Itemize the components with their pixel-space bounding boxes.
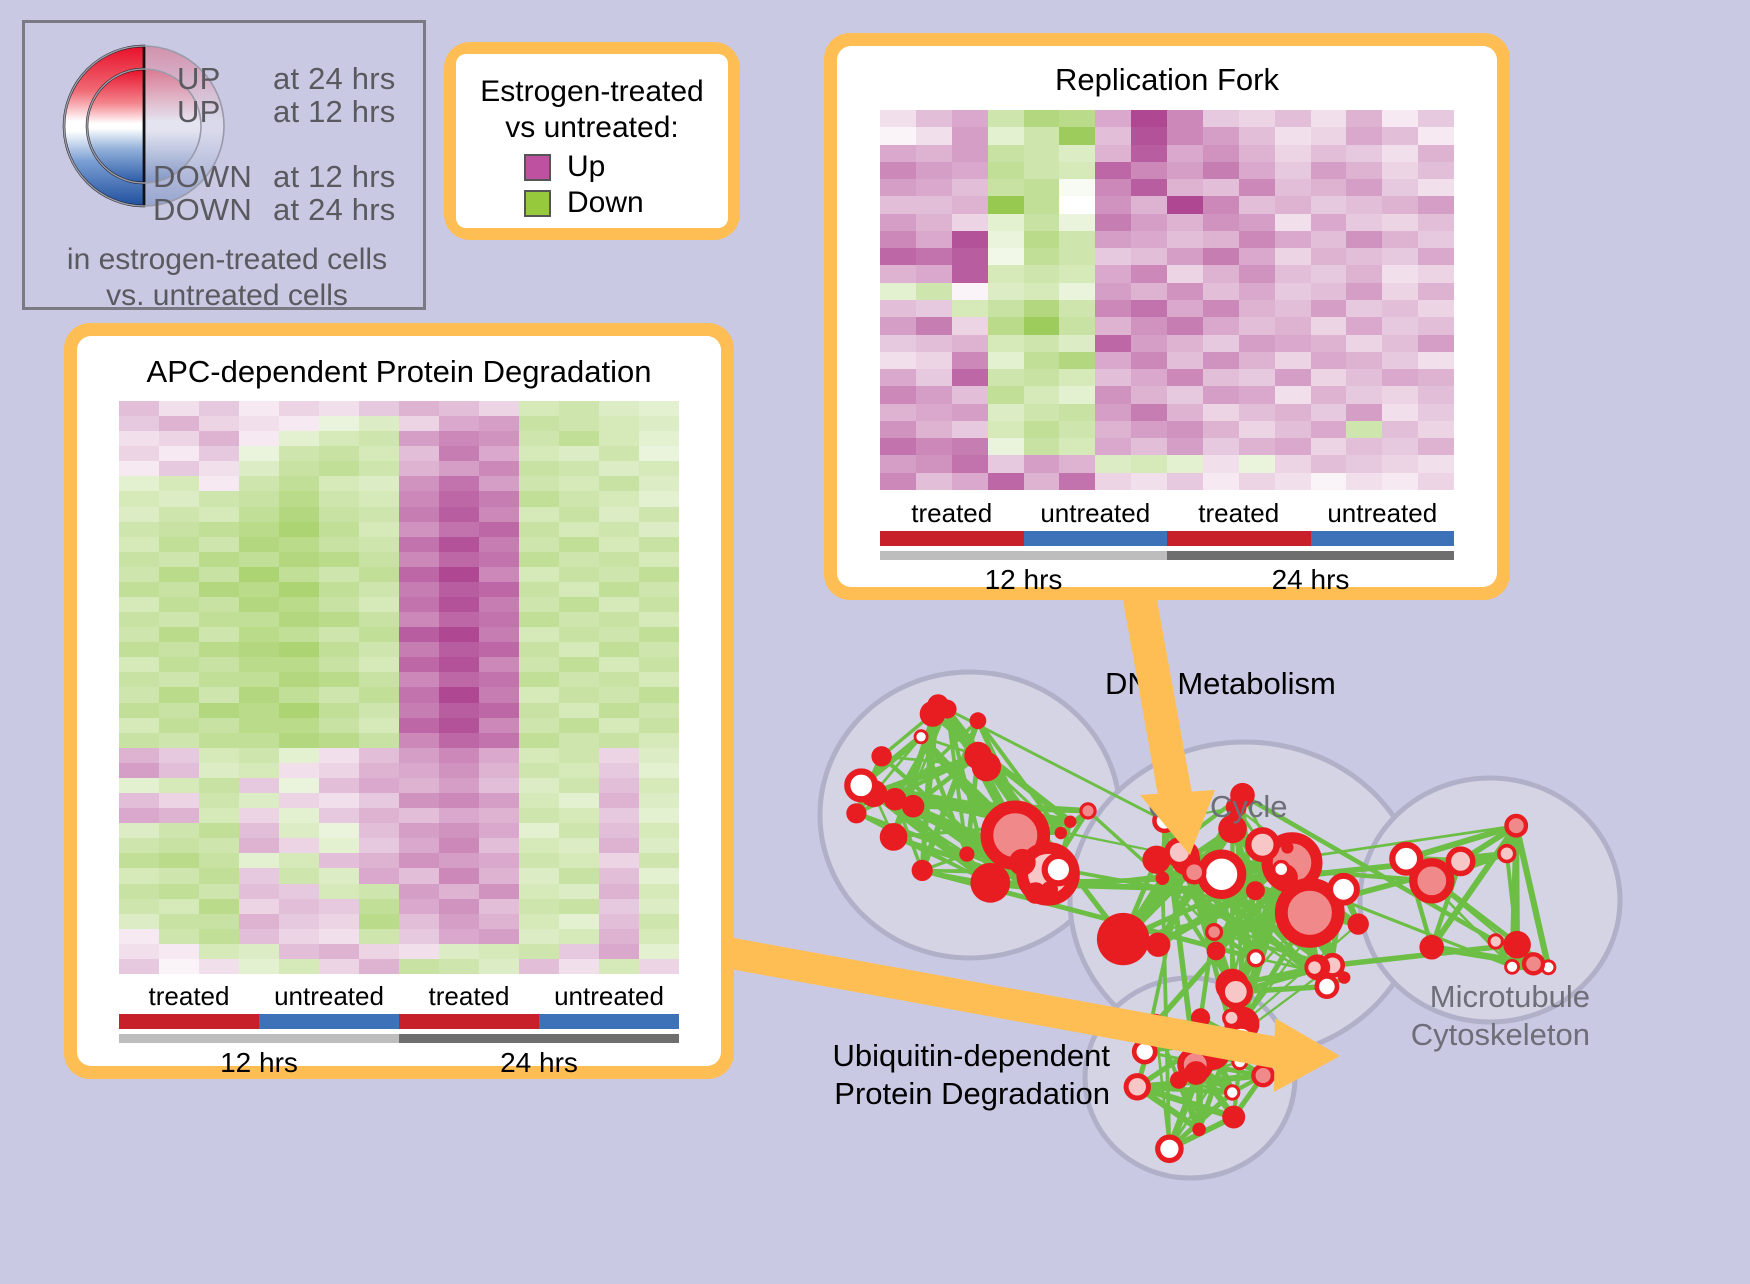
network-node[interactable] xyxy=(959,847,974,862)
network-node[interactable] xyxy=(938,700,957,719)
heatmap-cell xyxy=(952,214,988,231)
heatmap-cell xyxy=(159,763,199,778)
heatmap-cell xyxy=(479,748,519,763)
heatmap-cell xyxy=(439,672,479,687)
heatmap-cell xyxy=(1311,179,1347,196)
heatmap-cell xyxy=(988,231,1024,248)
network-node[interactable] xyxy=(1134,1041,1155,1062)
heatmap-cell xyxy=(952,162,988,179)
heatmap-cell xyxy=(1239,386,1275,403)
heatmap-cell xyxy=(1382,317,1418,334)
heatmap-cell xyxy=(1275,283,1311,300)
heatmap-cell xyxy=(119,733,159,748)
heatmap-cell xyxy=(519,476,559,491)
network-node[interactable] xyxy=(1064,816,1076,828)
heatmap-cell xyxy=(1418,145,1454,162)
heatmap-cell xyxy=(319,703,359,718)
heatmap-cell xyxy=(439,778,479,793)
heatmap-cell xyxy=(479,838,519,853)
heatmap-cell xyxy=(439,507,479,522)
heatmap-cell xyxy=(439,476,479,491)
heatmap-cell xyxy=(159,868,199,883)
heatmap-cell xyxy=(559,793,599,808)
network-node[interactable] xyxy=(880,823,908,851)
heatmap-cell xyxy=(880,473,916,490)
heatmap-cell xyxy=(1059,404,1095,421)
heatmap-cell xyxy=(239,507,279,522)
heatmap-cell xyxy=(1275,455,1311,472)
heatmap-cell xyxy=(1095,265,1131,282)
heatmap-cell xyxy=(279,567,319,582)
heatmap-cell xyxy=(319,853,359,868)
heatmap-cell xyxy=(519,416,559,431)
heatmap-cell xyxy=(559,507,599,522)
heatmap-cell xyxy=(159,748,199,763)
heatmap-cell xyxy=(880,196,916,213)
network-node[interactable] xyxy=(1207,942,1226,961)
heatmap-cell xyxy=(639,853,679,868)
heatmap-cell xyxy=(1167,179,1203,196)
heatmap-cell xyxy=(239,491,279,506)
network-node[interactable] xyxy=(972,752,1001,781)
heatmap-cell xyxy=(1311,438,1347,455)
heatmap-cell xyxy=(479,597,519,612)
heatmap-cell xyxy=(119,507,159,522)
heatmap-cell xyxy=(319,567,359,582)
heatmap-cell xyxy=(1311,127,1347,144)
heatmap-cell xyxy=(199,778,239,793)
heatmap-cell xyxy=(319,899,359,914)
heatmap-cell xyxy=(239,642,279,657)
heatmap-cell xyxy=(399,522,439,537)
heatmap-cell xyxy=(199,733,239,748)
heatmap-cell xyxy=(159,476,199,491)
heatmap-cell xyxy=(399,476,439,491)
heatmap-cell xyxy=(279,703,319,718)
heatmap-cell xyxy=(1095,283,1131,300)
network-node[interactable] xyxy=(1419,935,1444,960)
network-node[interactable] xyxy=(912,860,933,881)
heatmap-cell xyxy=(199,612,239,627)
heatmap-cell xyxy=(1275,196,1311,213)
heatmap-cell xyxy=(279,537,319,552)
heatmap-cell xyxy=(519,763,559,778)
heatmap-cell xyxy=(479,612,519,627)
heatmap-cell xyxy=(1024,127,1060,144)
heatmap-cell xyxy=(479,522,519,537)
heatmap-cell xyxy=(1346,455,1382,472)
network-node[interactable] xyxy=(1097,913,1149,965)
heatmap-cell xyxy=(1418,352,1454,369)
network-node[interactable] xyxy=(915,731,927,743)
heatmap-cell xyxy=(1059,231,1095,248)
heatmap-cell xyxy=(159,703,199,718)
heatmap-cell xyxy=(599,868,639,883)
heatmap-cell xyxy=(559,703,599,718)
heatmap-cell xyxy=(479,823,519,838)
heatmap-cell xyxy=(1382,455,1418,472)
heatmap-cell xyxy=(399,793,439,808)
heatmap-cell xyxy=(439,748,479,763)
heatmap-cell xyxy=(559,944,599,959)
heatmap-cell xyxy=(399,627,439,642)
heatmap-cell xyxy=(952,110,988,127)
heatmap-cell xyxy=(1131,317,1167,334)
heatmap-cell xyxy=(399,582,439,597)
heatmap-cell xyxy=(239,401,279,416)
heatmap-cell xyxy=(1275,248,1311,265)
heatmap-cell xyxy=(279,627,319,642)
heatmap-cell xyxy=(916,317,952,334)
heatmap-cell xyxy=(119,446,159,461)
heatmap-cell xyxy=(1239,214,1275,231)
heatmap-cell xyxy=(916,231,952,248)
network-node[interactable] xyxy=(846,803,866,823)
heatmap-cell xyxy=(519,748,559,763)
heatmap-cell xyxy=(519,642,559,657)
network-node[interactable] xyxy=(1146,1014,1166,1034)
heatmap-cell xyxy=(1059,352,1095,369)
network-node[interactable] xyxy=(1222,978,1250,1006)
heatmap-cell xyxy=(359,718,399,733)
heatmap-cell xyxy=(559,823,599,838)
heatmap-cell xyxy=(1131,438,1167,455)
heatmap-cell xyxy=(559,612,599,627)
network-node[interactable] xyxy=(1274,862,1289,877)
heatmap-cell xyxy=(1167,352,1203,369)
heatmap-cell xyxy=(1024,214,1060,231)
network-node[interactable] xyxy=(1156,871,1170,885)
heatmap-cell xyxy=(119,808,159,823)
heatmap-cell xyxy=(319,748,359,763)
heatmap-cell xyxy=(479,476,519,491)
group-label: treated xyxy=(119,981,259,1012)
heatmap-cell xyxy=(952,179,988,196)
network-node[interactable] xyxy=(1306,960,1322,976)
heatmap-cell xyxy=(239,733,279,748)
heatmap-cell xyxy=(1382,404,1418,421)
heatmap-cell xyxy=(599,778,639,793)
heatmap-cell xyxy=(1382,369,1418,386)
network-node[interactable] xyxy=(970,712,987,729)
network-node[interactable] xyxy=(1126,1076,1148,1098)
heatmap-cell xyxy=(559,914,599,929)
heatmap-cell xyxy=(319,808,359,823)
network-node[interactable] xyxy=(1207,925,1222,940)
network-node[interactable] xyxy=(1227,1026,1255,1054)
heatmap-cell xyxy=(599,416,639,431)
label-microtubule-line2: Cytoskeleton xyxy=(1260,1016,1590,1054)
network-node[interactable] xyxy=(1524,954,1543,973)
heatmap-cell xyxy=(319,657,359,672)
heatmap-cell xyxy=(519,733,559,748)
network-node[interactable] xyxy=(1499,846,1515,862)
heatmap-cell xyxy=(1203,162,1239,179)
heatmap-cell xyxy=(1024,248,1060,265)
network-node[interactable] xyxy=(1506,960,1519,973)
heatmap-cell xyxy=(1203,473,1239,490)
heatmap-cell xyxy=(639,793,679,808)
heatmap-cell xyxy=(239,461,279,476)
apc-panel-inner: APC-dependent Protein Degradation treate… xyxy=(77,336,721,1066)
network-node[interactable] xyxy=(1055,827,1067,839)
heatmap-cell xyxy=(559,929,599,944)
heatmap-cell xyxy=(1346,265,1382,282)
heatmap-cell xyxy=(880,283,916,300)
heatmap-cell xyxy=(479,944,519,959)
heatmap-cell xyxy=(599,884,639,899)
heatmap-cell xyxy=(479,416,519,431)
network-node[interactable] xyxy=(847,772,875,800)
heatmap-cell xyxy=(319,838,359,853)
heatmap-cell xyxy=(1275,317,1311,334)
heatmap-cell xyxy=(159,642,199,657)
heatmap-cell xyxy=(1024,352,1060,369)
heatmap-cell xyxy=(1059,145,1095,162)
heatmap-cell xyxy=(399,657,439,672)
network-node[interactable] xyxy=(1281,841,1293,853)
heatmap-cell xyxy=(1239,265,1275,282)
network-node[interactable] xyxy=(1201,854,1241,894)
group-bar-seg xyxy=(119,1014,259,1029)
heatmap-cell xyxy=(359,793,399,808)
label-dna-metabolism: DNA Metabolism xyxy=(1105,665,1336,703)
heatmap-cell xyxy=(319,431,359,446)
heatmap-cell xyxy=(599,537,639,552)
heatmap-cell xyxy=(159,446,199,461)
heatmap-cell xyxy=(1024,473,1060,490)
heatmap-cell xyxy=(1203,145,1239,162)
heatmap-cell xyxy=(479,657,519,672)
network-node[interactable] xyxy=(1226,1086,1239,1099)
heatmap-cell xyxy=(519,808,559,823)
heatmap-cell xyxy=(1418,386,1454,403)
group-label: treated xyxy=(1167,498,1311,529)
heatmap-cell xyxy=(639,657,679,672)
heatmap-cell xyxy=(1167,248,1203,265)
network-node[interactable] xyxy=(1507,816,1526,835)
heatmap-cell xyxy=(559,748,599,763)
network-node[interactable] xyxy=(1025,882,1047,904)
heatmap-cell xyxy=(199,838,239,853)
heatmap-cell xyxy=(1275,179,1311,196)
heatmap-cell xyxy=(519,914,559,929)
replication-fork-group-bar xyxy=(880,531,1454,546)
heatmap-cell xyxy=(1203,283,1239,300)
heatmap-cell xyxy=(599,401,639,416)
heatmap-cell xyxy=(479,642,519,657)
color-key-box: UP at 24 hrs UP at 12 hrs DOWN at 12 hrs… xyxy=(22,20,426,310)
heatmap-cell xyxy=(1059,162,1095,179)
heatmap-cell xyxy=(559,718,599,733)
heatmap-cell xyxy=(639,416,679,431)
heatmap-cell xyxy=(1131,162,1167,179)
heatmap-cell xyxy=(319,944,359,959)
heatmap-cell xyxy=(239,884,279,899)
heatmap-cell xyxy=(439,718,479,733)
heatmap-cell xyxy=(119,793,159,808)
heatmap-cell xyxy=(1167,473,1203,490)
heatmap-cell xyxy=(599,567,639,582)
heatmap-cell xyxy=(199,567,239,582)
key-row-3-label: DOWN xyxy=(153,192,252,228)
network-node[interactable] xyxy=(1167,840,1192,865)
network-node[interactable] xyxy=(1009,849,1036,876)
heatmap-cell xyxy=(1024,110,1060,127)
heatmap-cell xyxy=(359,642,399,657)
heatmap-cell xyxy=(1024,455,1060,472)
heatmap-cell xyxy=(639,522,679,537)
heatmap-cell xyxy=(279,476,319,491)
heatmap-cell xyxy=(439,491,479,506)
heatmap-cell xyxy=(199,401,239,416)
heatmap-cell xyxy=(1095,300,1131,317)
heatmap-cell xyxy=(1239,369,1275,386)
heatmap-cell xyxy=(1059,438,1095,455)
heatmap-cell xyxy=(319,507,359,522)
network-node[interactable] xyxy=(1192,1123,1206,1137)
heatmap-cell xyxy=(988,317,1024,334)
heatmap-cell xyxy=(359,416,399,431)
network-node[interactable] xyxy=(1184,1061,1208,1085)
network-node[interactable] xyxy=(1248,831,1276,859)
heatmap-cell xyxy=(359,808,399,823)
network-node[interactable] xyxy=(871,746,891,766)
heatmap-cell xyxy=(359,823,399,838)
heatmap-cell xyxy=(199,868,239,883)
label-microtubule-line1: Microtubule xyxy=(1260,978,1590,1016)
heatmap-cell xyxy=(1131,196,1167,213)
network-node[interactable] xyxy=(1348,913,1369,934)
heatmap-cell xyxy=(1346,404,1382,421)
network-node[interactable] xyxy=(1392,845,1420,873)
heatmap-cell xyxy=(319,823,359,838)
heatmap-cell xyxy=(199,884,239,899)
heatmap-cell xyxy=(199,823,239,838)
heatmap-cell xyxy=(479,778,519,793)
heatmap-cell xyxy=(519,823,559,838)
label-cell-cycle: Cell Cycle xyxy=(1148,788,1288,826)
heatmap-cell xyxy=(559,868,599,883)
heatmap-cell xyxy=(952,455,988,472)
heatmap-cell xyxy=(880,352,916,369)
heatmap-cell xyxy=(239,793,279,808)
heatmap-cell xyxy=(1346,438,1382,455)
heatmap-cell xyxy=(599,718,639,733)
heatmap-cell xyxy=(639,718,679,733)
heatmap-cell xyxy=(559,657,599,672)
heatmap-cell xyxy=(1024,231,1060,248)
heatmap-cell xyxy=(399,687,439,702)
heatmap-cell xyxy=(479,868,519,883)
heatmap-cell xyxy=(199,627,239,642)
network-node[interactable] xyxy=(1233,1055,1247,1069)
time-label: 12 hrs xyxy=(880,564,1167,596)
heatmap-cell xyxy=(1382,248,1418,265)
heatmap-cell xyxy=(880,179,916,196)
heatmap-cell xyxy=(1203,179,1239,196)
network-node[interactable] xyxy=(1330,876,1357,903)
heatmap-cell xyxy=(479,431,519,446)
heatmap-cell xyxy=(559,522,599,537)
heatmap-cell xyxy=(519,657,559,672)
heatmap-cell xyxy=(1346,110,1382,127)
heatmap-cell xyxy=(639,491,679,506)
heatmap-cell xyxy=(239,657,279,672)
network-node[interactable] xyxy=(1191,1008,1210,1027)
network-node[interactable] xyxy=(1489,935,1502,948)
network-node[interactable] xyxy=(1248,951,1263,966)
network-node[interactable] xyxy=(1081,804,1095,818)
heatmap-cell xyxy=(1239,127,1275,144)
key-row-0-label: UP xyxy=(177,61,220,97)
network-node[interactable] xyxy=(1222,1106,1245,1129)
heatmap-cell xyxy=(559,808,599,823)
network-node[interactable] xyxy=(1045,856,1072,883)
heatmap-cell xyxy=(1418,248,1454,265)
heatmap-cell xyxy=(439,461,479,476)
heatmap-cell xyxy=(639,959,679,974)
network-node[interactable] xyxy=(970,863,1010,903)
heatmap-cell xyxy=(399,778,439,793)
heatmap-cell xyxy=(1346,352,1382,369)
network-node[interactable] xyxy=(1146,933,1170,957)
heatmap-cell xyxy=(1382,265,1418,282)
heatmap-cell xyxy=(599,612,639,627)
heatmap-cell xyxy=(952,231,988,248)
heatmap-cell xyxy=(1203,110,1239,127)
heatmap-cell xyxy=(119,868,159,883)
network-node[interactable] xyxy=(1158,1137,1181,1160)
heatmap-cell xyxy=(1095,179,1131,196)
heatmap-cell xyxy=(880,265,916,282)
heatmap-cell xyxy=(359,597,399,612)
heatmap-cell xyxy=(639,476,679,491)
group-bar-seg xyxy=(539,1014,679,1029)
heatmap-cell xyxy=(399,718,439,733)
group-bar-seg xyxy=(880,531,1024,546)
heatmap-cell xyxy=(1059,421,1095,438)
heatmap-cell xyxy=(988,179,1024,196)
heatmap-cell xyxy=(239,778,279,793)
heatmap-cell xyxy=(1059,179,1095,196)
heatmap-cell xyxy=(279,929,319,944)
heatmap-cell xyxy=(199,808,239,823)
heatmap-cell xyxy=(479,672,519,687)
heatmap-cell xyxy=(1024,162,1060,179)
heatmap-cell xyxy=(279,733,319,748)
heatmap-cell xyxy=(319,884,359,899)
heatmap-cell xyxy=(988,214,1024,231)
heatmap-cell xyxy=(399,416,439,431)
heatmap-cell xyxy=(439,582,479,597)
network-node[interactable] xyxy=(1253,1066,1272,1085)
heatmap-cell xyxy=(1239,473,1275,490)
heatmap-cell xyxy=(239,431,279,446)
network-node[interactable] xyxy=(884,788,907,811)
heatmap-cell xyxy=(599,733,639,748)
heatmap-cell xyxy=(1239,335,1275,352)
network-node[interactable] xyxy=(1246,881,1265,900)
network-node[interactable] xyxy=(1448,849,1472,873)
heatmap-cell xyxy=(639,763,679,778)
heatmap-cell xyxy=(639,642,679,657)
heatmap-cell xyxy=(1382,127,1418,144)
heatmap-cell xyxy=(1095,127,1131,144)
heatmap-cell xyxy=(159,612,199,627)
network-node[interactable] xyxy=(1205,1029,1220,1044)
heatmap-cell xyxy=(399,823,439,838)
